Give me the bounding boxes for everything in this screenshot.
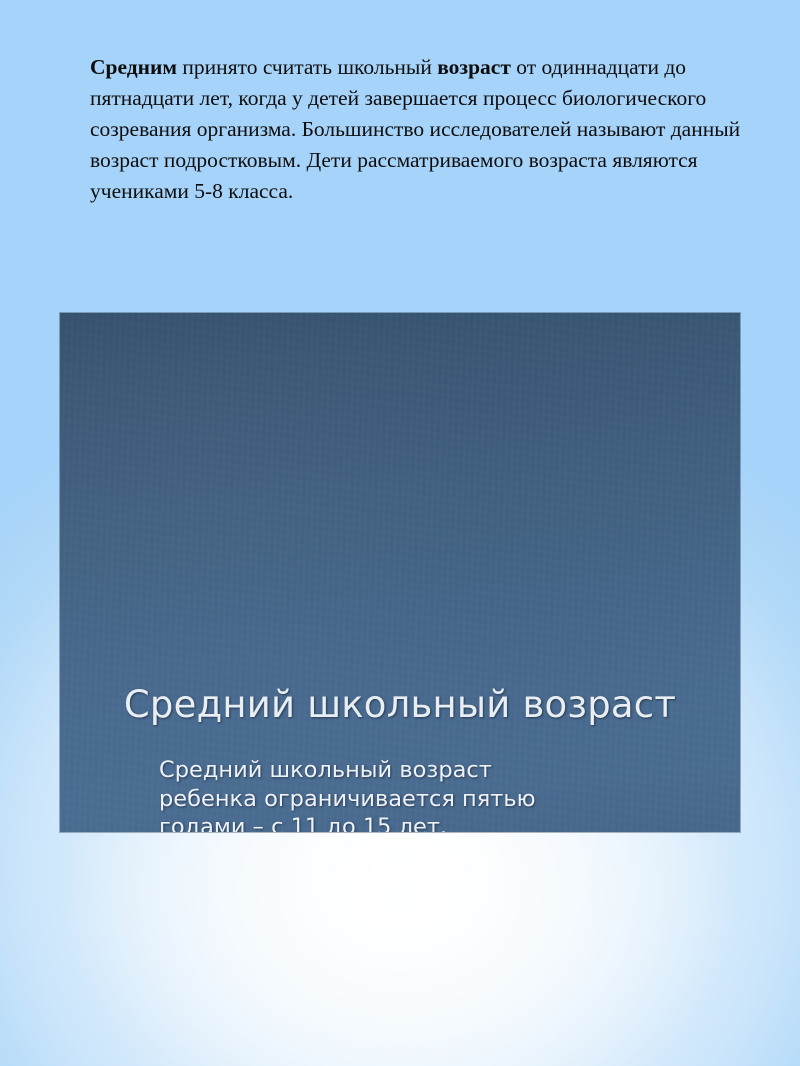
intro-text-1: принято считать школьный (177, 55, 437, 79)
slide-panel: Средний школьный возраст Средний школьны… (60, 313, 740, 832)
slide-title: Средний школьный возраст (60, 683, 740, 727)
slide-paragraph-1: Средний школьный возраст ребенка огранич… (159, 756, 569, 832)
intro-lead-bold: Средним (90, 55, 177, 79)
intro-paragraph: Средним принято считать школьный возраст… (90, 52, 750, 207)
slide-body: Средний школьный возраст ребенка огранич… (159, 756, 569, 832)
intro-emphasis-bold: возраст (437, 55, 511, 79)
slide-texture (60, 313, 740, 832)
